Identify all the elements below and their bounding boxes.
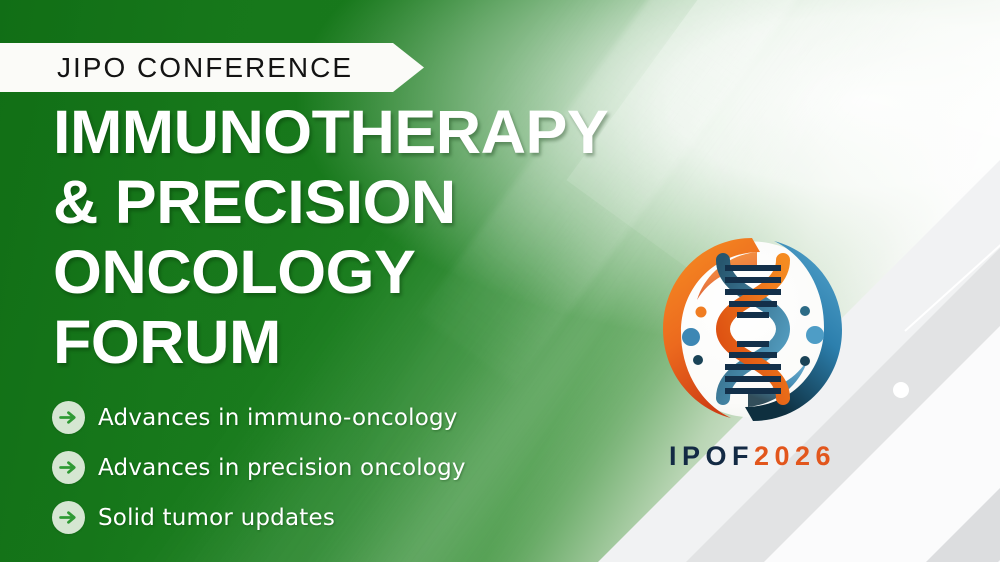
logo-acronym: IPOF: [669, 441, 754, 471]
topic-list: Advances in immuno-oncology Advances in …: [52, 401, 466, 534]
logo-wordmark: IPOF2026: [645, 443, 860, 470]
list-item: Solid tumor updates: [52, 501, 466, 534]
conference-poster: JIPO CONFERENCE IMMUNOTHERAPY & PRECISIO…: [0, 0, 1000, 562]
logo-year: 2026: [754, 441, 836, 471]
arrow-right-circle-icon: [52, 501, 85, 534]
list-item: Advances in immuno-oncology: [52, 401, 466, 434]
title-line-1: IMMUNOTHERAPY: [53, 97, 712, 167]
arrow-right-circle-icon: [52, 401, 85, 434]
title-line-2: & PRECISION: [53, 167, 712, 237]
list-item-label: Advances in precision oncology: [98, 455, 466, 481]
conference-banner-label: JIPO CONFERENCE: [57, 54, 353, 82]
decorative-pin-dot: [893, 382, 909, 398]
arrow-right-circle-icon: [52, 451, 85, 484]
list-item-label: Advances in immuno-oncology: [98, 405, 458, 431]
conference-banner: JIPO CONFERENCE: [0, 43, 424, 92]
page-title: IMMUNOTHERAPY & PRECISION ONCOLOGY FORUM: [53, 97, 693, 377]
title-line-3: ONCOLOGY: [53, 237, 712, 307]
list-item: Advances in precision oncology: [52, 451, 466, 484]
title-line-4: FORUM: [53, 307, 712, 377]
list-item-label: Solid tumor updates: [98, 505, 335, 531]
dna-helix-circle-icon: [645, 222, 860, 437]
